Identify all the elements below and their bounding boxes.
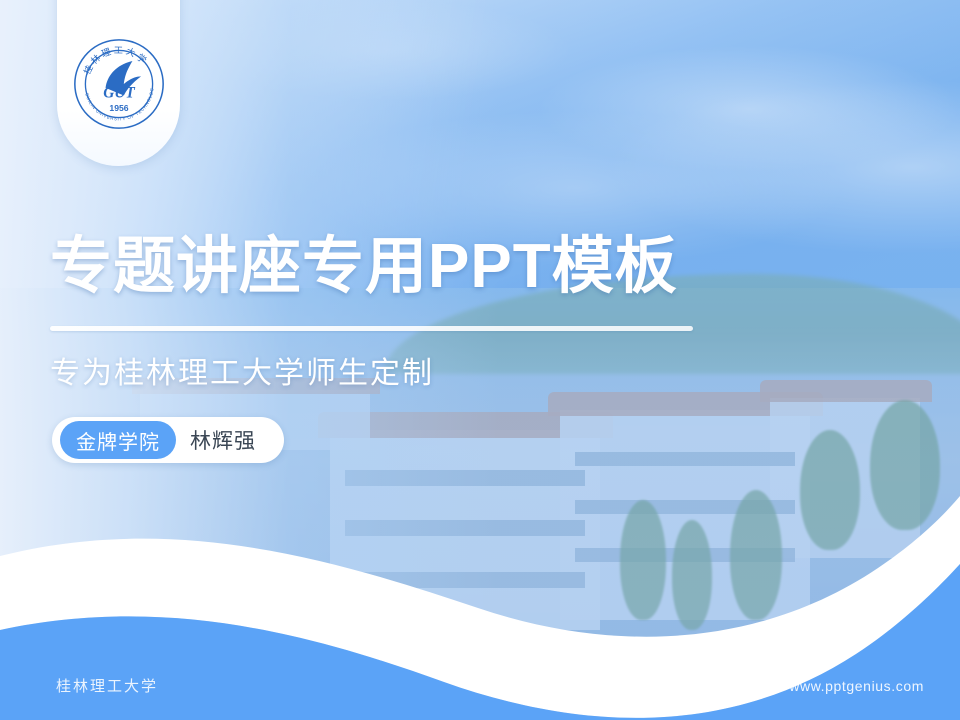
university-emblem-icon: 桂林理工大学 GUILIN UNIVERSITY OF TECHNOLOGY G… bbox=[71, 36, 167, 132]
footer-university-name: 桂林理工大学 bbox=[56, 675, 158, 696]
credit-pill-bar: 金牌学院 林辉强 bbox=[52, 417, 284, 463]
title-divider bbox=[50, 326, 693, 331]
svg-text:1956: 1956 bbox=[109, 103, 128, 113]
badge-gold-college: 金牌学院 bbox=[60, 421, 176, 459]
presentation-slide: 桂林理工大学 GUILIN UNIVERSITY OF TECHNOLOGY G… bbox=[0, 0, 960, 720]
author-name: 林辉强 bbox=[184, 425, 268, 455]
svg-text:GUT: GUT bbox=[103, 84, 135, 101]
university-logo-badge: 桂林理工大学 GUILIN UNIVERSITY OF TECHNOLOGY G… bbox=[57, 0, 180, 166]
footer-website-url: www.pptgenius.com bbox=[789, 678, 924, 694]
page-title: 专题讲座专用PPT模板 bbox=[50, 236, 678, 298]
page-subtitle: 专为桂林理工大学师生定制 bbox=[50, 348, 434, 392]
